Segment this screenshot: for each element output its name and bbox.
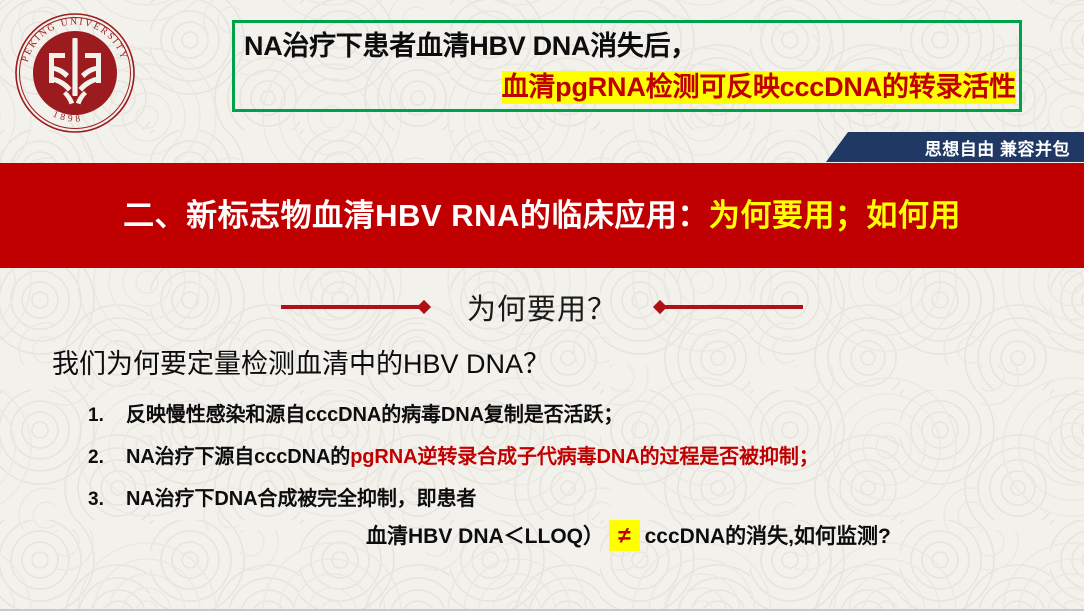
list-item-text: NA治疗下源自cccDNA的 <box>126 446 350 468</box>
not-equal-icon: ≠ <box>609 520 640 551</box>
section-banner-text: 二、新标志物血清HBV RNA的临床应用：为何要用；如何用 <box>0 190 1084 235</box>
conclusion-line: 血清HBV DNA＜LLOQ）≠cccDNA的消失,如何监测? <box>366 520 891 550</box>
motto-text: 思想自由 兼容并包 <box>826 135 1070 160</box>
decorative-rule-right <box>659 305 803 309</box>
conclusion-before: 血清HBV DNA＜LLOQ） <box>366 525 604 548</box>
why-heading-title: 为何要用？ <box>425 286 659 328</box>
list-item-text-highlighted: pgRNA逆转录合成子代病毒DNA的过程是否被抑制； <box>350 446 819 468</box>
why-heading: 为何要用？ <box>0 285 1084 329</box>
callout-line-1: NA治疗下患者血清HBV DNA消失后， <box>244 24 697 63</box>
conclusion-after: cccDNA的消失,如何监测? <box>645 525 891 548</box>
list-item-text: NA治疗下DNA合成被完全抑制，即患者 <box>126 488 476 510</box>
callout-line-2-text: 血清pgRNA检测可反映cccDNA的转录活性 <box>502 71 1016 104</box>
lead-question: 我们为何要定量检测血清中的HBV DNA？ <box>52 342 550 381</box>
list-item-number: 2. <box>88 447 126 469</box>
list-item-number: 1. <box>88 405 126 427</box>
decorative-rule-left <box>281 305 425 309</box>
list-item: 2.NA治疗下源自cccDNA的pgRNA逆转录合成子代病毒DNA的过程是否被抑… <box>88 440 819 469</box>
list-item-number: 3. <box>88 489 126 511</box>
section-banner: 二、新标志物血清HBV RNA的临床应用：为何要用；如何用 <box>0 163 1084 268</box>
callout-line-2: 血清pgRNA检测可反映cccDNA的转录活性 <box>502 65 1016 104</box>
motto-badge: 思想自由 兼容并包 <box>826 132 1084 162</box>
section-title-yellow: 为何要用；如何用 <box>709 198 961 233</box>
list-item-text: 反映慢性感染和源自cccDNA的病毒DNA复制是否活跃； <box>126 404 623 426</box>
callout-box: NA治疗下患者血清HBV DNA消失后， 血清pgRNA检测可反映cccDNA的… <box>232 20 1022 112</box>
section-title-white: 二、新标志物血清HBV RNA的临床应用： <box>123 198 709 233</box>
slide-canvas: PEKING UNIVERSITY 1898 NA治疗下患者血清HBV DNA消… <box>0 0 1084 611</box>
peking-university-logo: PEKING UNIVERSITY 1898 <box>14 12 136 134</box>
list-item: 3.NA治疗下DNA合成被完全抑制，即患者 <box>88 482 476 511</box>
list-item: 1.反映慢性感染和源自cccDNA的病毒DNA复制是否活跃； <box>88 398 623 427</box>
